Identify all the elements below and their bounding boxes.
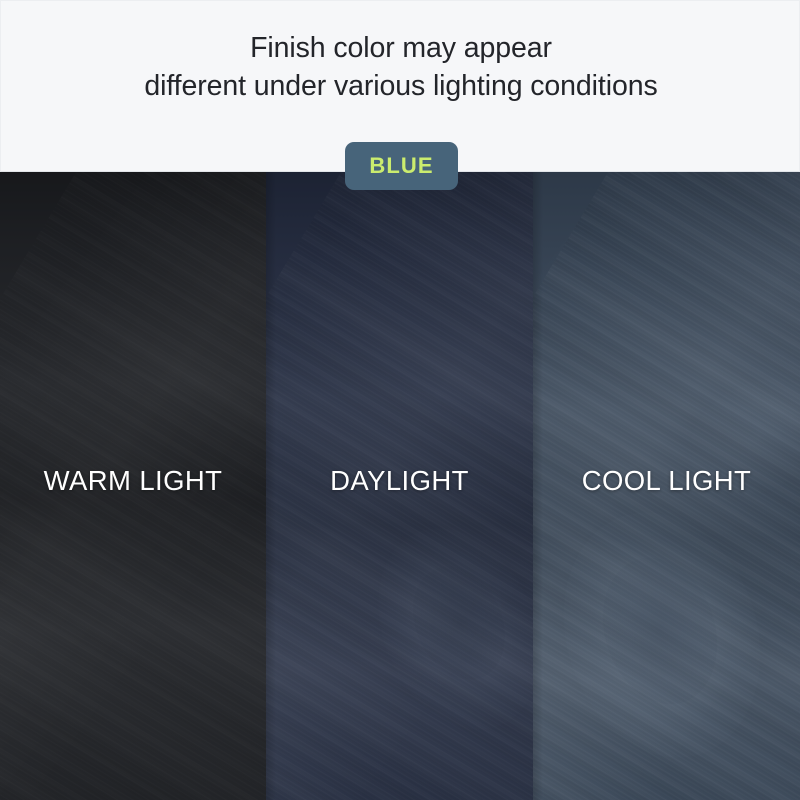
panel-label-warm-light: WARM LIGHT (0, 467, 266, 495)
swatch-panel-group: WARM LIGHT DAYLIGHT COOL LIGHT (0, 172, 800, 800)
color-name-badge-label: BLUE (369, 155, 433, 177)
color-name-badge: BLUE (345, 142, 458, 190)
lighting-comparison-graphic: Finish color may appear different under … (0, 0, 800, 800)
swatch-panel-cool-light: COOL LIGHT (533, 172, 800, 800)
page-title: Finish color may appear different under … (1, 29, 800, 105)
panel-label-daylight: DAYLIGHT (266, 467, 533, 495)
panel-label-cool-light: COOL LIGHT (533, 467, 800, 495)
swatch-panel-daylight: DAYLIGHT (266, 172, 533, 800)
swatch-panel-warm-light: WARM LIGHT (0, 172, 266, 800)
